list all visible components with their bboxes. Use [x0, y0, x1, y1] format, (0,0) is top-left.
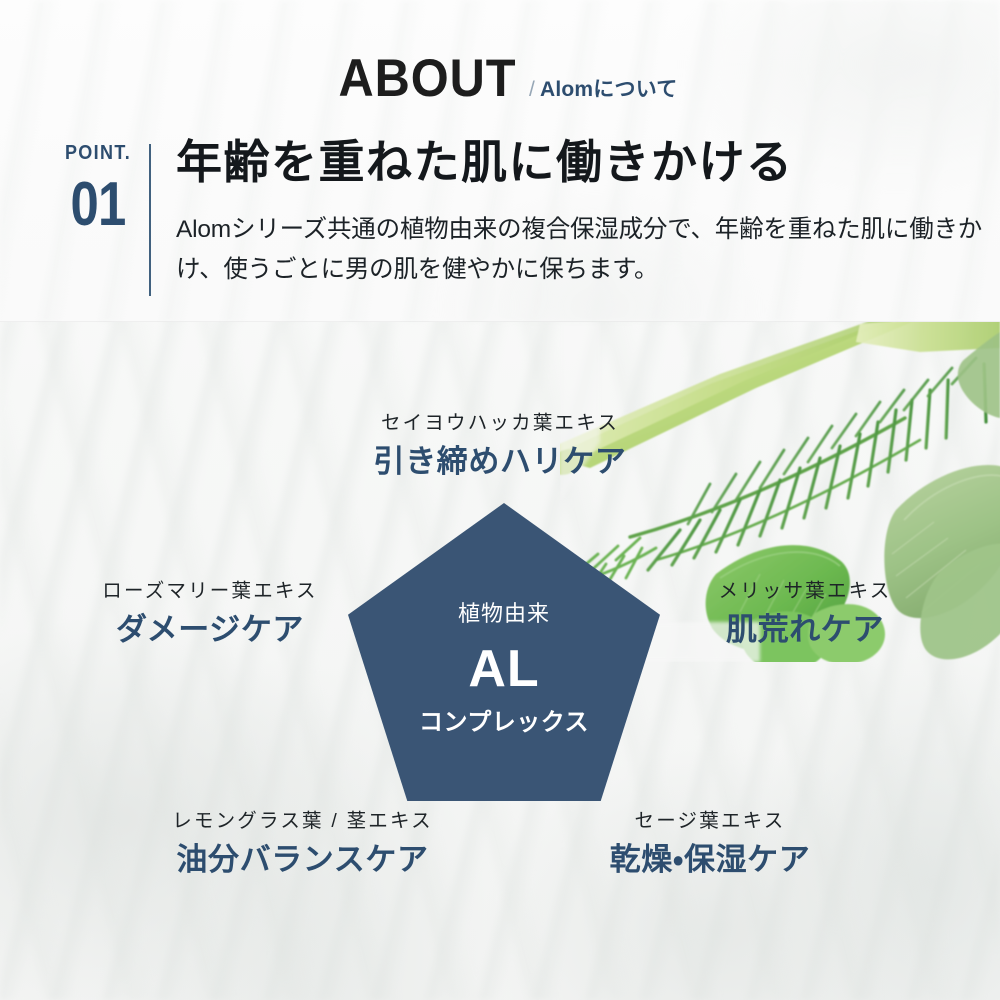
about-point-01-panel: ABOUT /Alomについて POINT. 01 年齢を重ねた肌に働きかける …	[0, 0, 1000, 1000]
pentagon-content: 植物由来 AL コンプレックス	[348, 503, 660, 801]
about-title-en: ABOUT	[338, 52, 516, 105]
benefit-top-label: 引き締めハリケア	[340, 446, 660, 477]
page-description: Alomシリーズ共通の植物由来の複合保湿成分で、年齢を重ねた肌に働きかけ、使うご…	[176, 210, 992, 289]
benefit-left-label: ダメージケア	[60, 614, 360, 645]
benefit-bottom-left-label: 油分バランスケア	[130, 844, 475, 875]
about-heading: ABOUT /Alomについて	[0, 52, 1000, 105]
benefit-left-ingredient: ローズマリー葉エキス	[60, 582, 360, 602]
benefit-bottom-right: セージ葉エキス 乾燥・保湿ケア	[545, 812, 875, 875]
benefit-bottom-left-ingredient: レモングラス葉 / 茎エキス	[130, 812, 475, 832]
benefit-bottom-left: レモングラス葉 / 茎エキス 油分バランスケア	[130, 812, 475, 875]
about-title-ja: /Alomについて	[529, 79, 678, 100]
pentagon-bottom-label: コンプレックス	[419, 711, 589, 735]
benefit-right: メリッサ葉エキス 肌荒れケア	[660, 582, 950, 645]
point-badge: POINT. 01	[48, 143, 148, 236]
benefit-right-label: 肌荒れケア	[660, 614, 950, 645]
point-number: 01	[57, 174, 139, 236]
pentagon-top-label: 植物由来	[458, 603, 550, 625]
benefit-bottom-right-label: 乾燥・保湿ケア	[545, 844, 875, 875]
benefit-left: ローズマリー葉エキス ダメージケア	[60, 582, 360, 645]
about-title-ja-text: Alomについて	[540, 78, 677, 101]
page-title: 年齢を重ねた肌に働きかける	[176, 136, 794, 189]
al-complex-pentagon: 植物由来 AL コンプレックス	[348, 503, 660, 801]
point-label: POINT.	[53, 143, 143, 163]
benefit-top: セイヨウハッカ葉エキス 引き締めハリケア	[340, 414, 660, 477]
benefit-top-ingredient: セイヨウハッカ葉エキス	[340, 414, 660, 434]
pentagon-name: AL	[468, 643, 539, 695]
slash-separator: /	[529, 78, 535, 101]
point-divider-rule	[149, 144, 151, 296]
benefit-bottom-right-ingredient: セージ葉エキス	[545, 812, 875, 832]
section-divider	[0, 321, 1000, 322]
benefit-right-ingredient: メリッサ葉エキス	[660, 582, 950, 602]
